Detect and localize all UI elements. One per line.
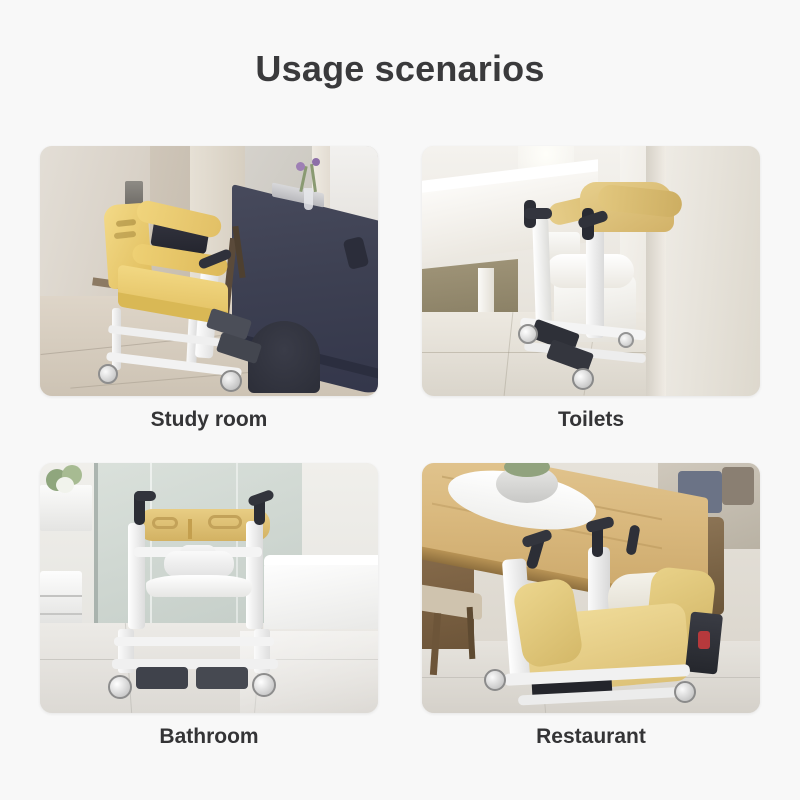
lift-post-right — [246, 521, 263, 629]
caster-wheel — [518, 324, 538, 344]
caster-wheel — [572, 368, 594, 390]
backrest-cutout — [152, 517, 178, 529]
scenario-photo-restaurant[interactable] — [422, 463, 760, 713]
caster-wheel — [484, 669, 506, 691]
scenario-card-toilets[interactable]: Toilets — [422, 146, 760, 396]
plant-flower — [56, 477, 74, 493]
caster-wheel — [108, 675, 132, 699]
wall-right — [658, 146, 760, 396]
caster-wheel — [674, 681, 696, 703]
caster-wheel — [220, 370, 242, 392]
scenario-photo-bathroom[interactable] — [40, 463, 378, 713]
crank-arm — [524, 208, 552, 219]
folded-towels — [40, 571, 82, 629]
flower-bloom — [296, 162, 305, 171]
page-title: Usage scenarios — [0, 48, 800, 90]
bathtub — [264, 559, 378, 629]
footplate — [136, 667, 188, 689]
caster-wheel — [98, 364, 118, 384]
towel-seam — [40, 595, 82, 597]
caster-wheel — [618, 332, 634, 348]
usage-scenarios-page: Usage scenarios — [0, 0, 800, 800]
scenario-caption-restaurant: Restaurant — [422, 725, 760, 749]
backrest-cutout — [208, 515, 242, 529]
scenario-card-study-room[interactable]: Study room — [40, 146, 378, 396]
crank-arm — [134, 491, 156, 501]
lift-yoke — [164, 551, 234, 577]
scenario-caption-study-room: Study room — [40, 408, 378, 432]
footplate — [196, 667, 248, 689]
bathtub-rim — [264, 555, 378, 565]
background-chair — [722, 467, 754, 505]
scenario-caption-toilets: Toilets — [422, 408, 760, 432]
seat-plate — [146, 575, 252, 597]
red-release-lever — [698, 631, 710, 649]
scenario-grid: Study room — [40, 146, 760, 713]
lift-base-bar — [114, 637, 274, 646]
scenario-caption-bathroom: Bathroom — [40, 725, 378, 749]
office-chair — [248, 321, 320, 393]
scenario-card-bathroom[interactable]: Bathroom — [40, 463, 378, 713]
shower-frame — [94, 463, 98, 643]
scenario-photo-study-room[interactable] — [40, 146, 378, 396]
lift-post-right — [586, 226, 604, 338]
towel-seam — [40, 613, 82, 615]
caster-wheel — [252, 673, 276, 697]
scenario-card-restaurant[interactable]: Restaurant — [422, 463, 760, 713]
flower-bloom — [312, 158, 320, 166]
lift-post-left — [128, 523, 145, 629]
backrest-divider — [188, 519, 192, 539]
scenario-photo-toilets[interactable] — [422, 146, 760, 396]
vase — [304, 188, 313, 210]
